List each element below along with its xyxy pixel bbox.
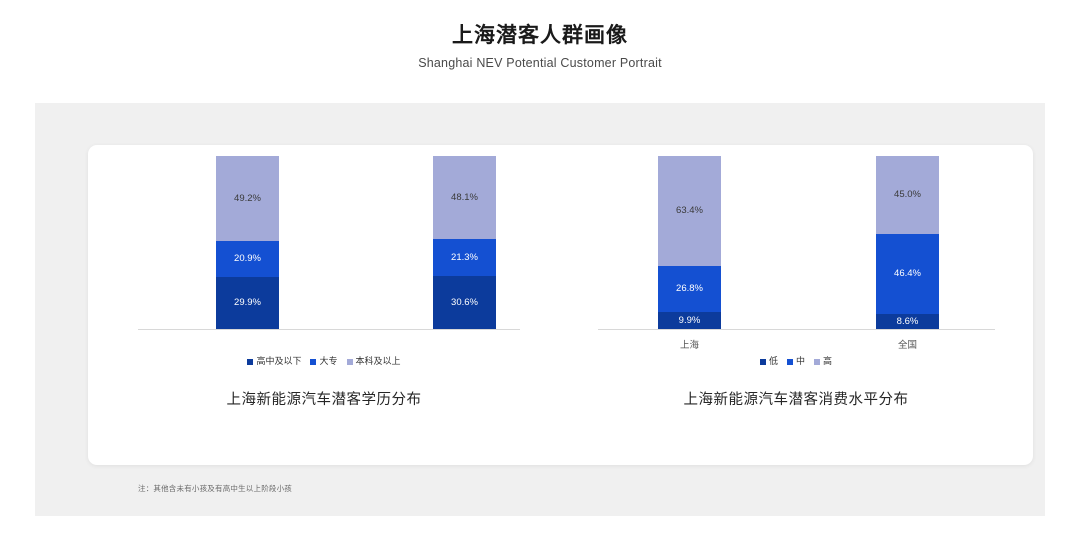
footnote: 注：其他含未有小孩及有高中生以上阶段小孩 bbox=[138, 483, 292, 494]
chart-2-caption: 上海新能源汽车潜客消费水平分布 bbox=[560, 388, 1032, 409]
chart-1-caption: 上海新能源汽车潜客学历分布 bbox=[88, 388, 560, 409]
charts-row: 49.2% 20.9% 29.9% 48.1% 21.3% 30.6% bbox=[88, 145, 1033, 465]
legend-item-mid[interactable]: 中 bbox=[787, 357, 805, 366]
chart-1-axis-line bbox=[138, 329, 520, 330]
chart-2-plot-area: 63.4% 26.8% 9.9% 45.0% 46.4% 8.6% bbox=[560, 145, 1032, 340]
bar-segment-mid: 46.4% bbox=[876, 234, 939, 314]
chart-2-axis-line bbox=[598, 329, 995, 330]
content-panel: 49.2% 20.9% 29.9% 48.1% 21.3% 30.6% bbox=[35, 103, 1045, 516]
bar-segment-high: 48.1% bbox=[433, 156, 496, 239]
bar-segment-low: 9.9% bbox=[658, 312, 721, 329]
page-subtitle: Shanghai NEV Potential Customer Portrait bbox=[0, 53, 1080, 73]
chart-consumption-level-distribution: 63.4% 26.8% 9.9% 45.0% 46.4% 8.6% 上海 全国 bbox=[560, 145, 1032, 465]
bar-segment-mid: 26.8% bbox=[658, 266, 721, 312]
category-label: 上海 bbox=[658, 337, 721, 351]
legend-item-high[interactable]: 本科及以上 bbox=[347, 357, 401, 366]
legend-item-low[interactable]: 高中及以下 bbox=[247, 357, 301, 366]
chart-1-plot-area: 49.2% 20.9% 29.9% 48.1% 21.3% 30.6% bbox=[88, 145, 560, 340]
legend-label: 高 bbox=[823, 357, 832, 366]
legend-swatch-icon bbox=[787, 359, 793, 365]
legend-swatch-icon bbox=[760, 359, 766, 365]
chart-1-category-labels bbox=[88, 337, 560, 353]
legend-label: 中 bbox=[796, 357, 805, 366]
bar-segment-low: 30.6% bbox=[433, 276, 496, 329]
legend-swatch-icon bbox=[247, 359, 253, 365]
bar-segment-high: 45.0% bbox=[876, 156, 939, 234]
legend-label: 高中及以下 bbox=[256, 357, 301, 366]
chart-1-legend: 高中及以下 大专 本科及以上 bbox=[88, 357, 560, 366]
bar-segment-low: 8.6% bbox=[876, 314, 939, 329]
legend-item-low[interactable]: 低 bbox=[760, 357, 778, 366]
page-root: 上海潜客人群画像 Shanghai NEV Potential Customer… bbox=[0, 0, 1080, 547]
legend-swatch-icon bbox=[347, 359, 353, 365]
category-label: 全国 bbox=[876, 337, 939, 351]
bar-segment-high: 49.2% bbox=[216, 156, 279, 241]
bar-segment-mid: 21.3% bbox=[433, 239, 496, 276]
legend-item-high[interactable]: 高 bbox=[814, 357, 832, 366]
table-row[interactable]: 45.0% 46.4% 8.6% bbox=[876, 156, 939, 329]
page-title: 上海潜客人群画像 bbox=[0, 22, 1080, 50]
chart-2-legend: 低 中 高 bbox=[560, 357, 1032, 366]
table-row[interactable]: 49.2% 20.9% 29.9% bbox=[216, 156, 279, 329]
table-row[interactable]: 48.1% 21.3% 30.6% bbox=[433, 156, 496, 329]
page-header: 上海潜客人群画像 Shanghai NEV Potential Customer… bbox=[0, 22, 1080, 73]
chart-education-distribution: 49.2% 20.9% 29.9% 48.1% 21.3% 30.6% bbox=[88, 145, 560, 465]
bar-segment-mid: 20.9% bbox=[216, 241, 279, 277]
legend-label: 本科及以上 bbox=[356, 357, 401, 366]
chart-card: 49.2% 20.9% 29.9% 48.1% 21.3% 30.6% bbox=[88, 145, 1033, 465]
legend-label: 大专 bbox=[319, 357, 337, 366]
bar-segment-high: 63.4% bbox=[658, 156, 721, 266]
table-row[interactable]: 63.4% 26.8% 9.9% bbox=[658, 156, 721, 329]
legend-item-mid[interactable]: 大专 bbox=[310, 357, 337, 366]
legend-swatch-icon bbox=[814, 359, 820, 365]
legend-swatch-icon bbox=[310, 359, 316, 365]
bar-segment-low: 29.9% bbox=[216, 277, 279, 329]
chart-2-category-labels: 上海 全国 bbox=[560, 337, 1032, 353]
legend-label: 低 bbox=[769, 357, 778, 366]
